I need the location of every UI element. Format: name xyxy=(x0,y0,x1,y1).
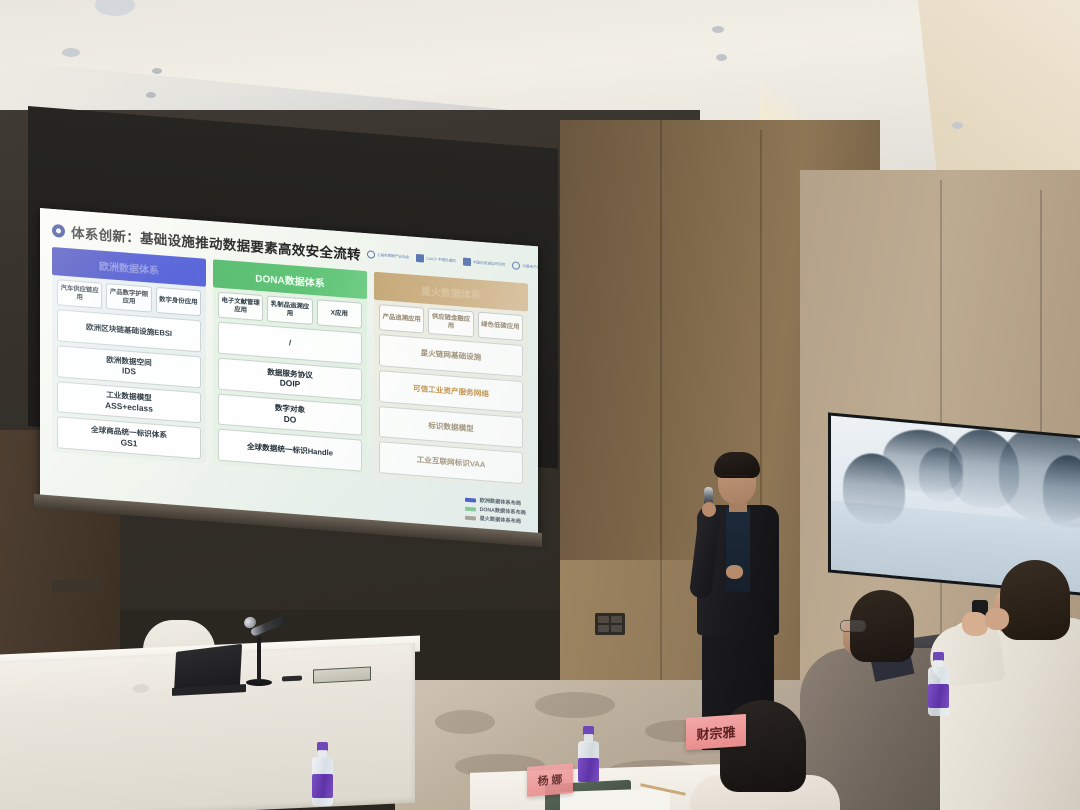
ceiling-downlight-icon xyxy=(952,122,963,129)
partner-logo: 中国信息通信研究院 xyxy=(463,258,505,269)
layer-box: 工业数据模型 ASS+eclass xyxy=(57,381,201,424)
presentation-clicker[interactable] xyxy=(282,675,302,681)
app-box: 汽车供应链应用 xyxy=(57,279,102,308)
baseboard-outlet xyxy=(52,580,98,592)
ceiling-downlight-icon xyxy=(712,26,724,33)
partner-logo-strip: 上海市数据产业协会 CAICT 中国信通院 中国信息通信研究院 中国电子技术标准… xyxy=(367,250,538,273)
audience-member-phone-head xyxy=(1000,560,1070,640)
presenter-hand-right xyxy=(726,565,743,579)
audience-hand-left xyxy=(962,612,988,636)
partner-logo-label: 中国信息通信研究院 xyxy=(473,260,505,267)
app-box: 绿色低碳应用 xyxy=(478,312,523,341)
water-bottle-far-table xyxy=(928,652,946,708)
microphone-stand-pole xyxy=(257,637,261,683)
legend-swatch-icon xyxy=(465,497,476,502)
layer-title: 标识数据模型 xyxy=(428,420,474,433)
layer-title: 工业互联网标识VAA xyxy=(417,455,486,470)
partner-logo-label: 中国电子技术标准化 xyxy=(522,264,538,271)
column-xinghuo-rows: 星火链网基础设施 可信工业资产服务网络 标识数据模型 工业互联网标识VAA xyxy=(374,334,528,485)
layer-subtitle: DO xyxy=(284,414,297,425)
app-box: 乳制品追溯应用 xyxy=(267,295,312,324)
partner-logo: CAICT 中国信通院 xyxy=(416,254,456,265)
desk-microphone xyxy=(250,615,288,637)
presenter-hand-left xyxy=(702,502,716,517)
layer-title: 可信工业资产服务网络 xyxy=(413,384,489,399)
partner-logo-label: 上海市数据产业协会 xyxy=(377,253,409,260)
column-dona-rows: / 数据服务协议 DOIP 数字对象 DO 全球数据统一标识Handle xyxy=(213,321,367,472)
layer-box: 欧洲数据空间 IDS xyxy=(57,345,201,388)
layer-subtitle: IDS xyxy=(122,365,136,377)
partner-logo: 中国电子技术标准化 xyxy=(512,261,538,272)
square-logo-icon xyxy=(463,258,471,267)
water-bottle-podium xyxy=(312,742,333,806)
papers-on-table xyxy=(560,788,670,810)
column-dona: DONA数据体系 电子文献管理应用 乳制品追溯应用 X应用 / 数据服务协议 xyxy=(213,259,367,476)
audience-hand-right xyxy=(985,608,1009,630)
ceiling-downlight-icon xyxy=(62,48,80,57)
app-box: X应用 xyxy=(317,299,362,328)
column-eu: 欧洲数据体系 汽车供应链应用 产品数字护照应用 数字身份应用 欧洲区块链基础设施… xyxy=(52,247,206,464)
column-xinghuo: 星火数据体系 产品追溯应用 供应链金融应用 绿色低碳应用 星火链网基础设施 可信… xyxy=(374,272,528,489)
water-bottle-front-table xyxy=(578,726,599,790)
app-box: 数字身份应用 xyxy=(156,287,201,316)
circle-logo-icon xyxy=(367,250,375,259)
presenter-shirt xyxy=(726,508,750,592)
name-card-left: 杨 娜 xyxy=(527,763,573,797)
ceiling-downlight-icon xyxy=(146,92,156,98)
layer-box: 数字对象 DO xyxy=(218,393,362,436)
layer-subtitle: GS1 xyxy=(121,437,138,449)
column-eu-rows: 欧洲区块链基础设施EBSI 欧洲数据空间 IDS 工业数据模型 ASS+ecla… xyxy=(52,309,206,460)
app-box: 电子文献管理应用 xyxy=(218,292,263,321)
legend-swatch-icon xyxy=(465,506,476,511)
presentation-slide: 体系创新：基础设施推动数据要素高效安全流转 上海市数据产业协会 CAICT 中国… xyxy=(40,208,538,536)
app-box: 产品追溯应用 xyxy=(379,304,424,333)
layer-box: 数据服务协议 DOIP xyxy=(218,357,362,400)
layer-box: 标识数据模型 xyxy=(379,406,523,449)
legend-label: 星火数据体系布局 xyxy=(480,515,522,525)
layer-box: 工业互联网标识VAA xyxy=(379,441,523,484)
wood-panel-seam xyxy=(660,120,662,680)
layer-title: 全球数据统一标识Handle xyxy=(247,442,333,458)
projection-screen[interactable]: 体系创新：基础设施推动数据要素高效安全流转 上海市数据产业协会 CAICT 中国… xyxy=(40,208,538,536)
layer-box: 全球数据统一标识Handle xyxy=(218,429,362,472)
audience-glasses-icon xyxy=(840,620,866,632)
layer-box: 可信工业资产服务网络 xyxy=(379,370,523,413)
partner-logo: 上海市数据产业协会 xyxy=(367,250,409,261)
layer-title: / xyxy=(289,338,291,348)
layer-title: 星火链网基础设施 xyxy=(421,348,482,362)
conference-room-photo: 体系创新：基础设施推动数据要素高效安全流转 上海市数据产业协会 CAICT 中国… xyxy=(0,0,1080,810)
ceiling-downlight-icon xyxy=(716,54,727,61)
square-logo-icon xyxy=(416,254,424,263)
slide-legend: 欧洲数据体系布局 DONA数据体系布局 星火数据体系布局 xyxy=(465,496,526,526)
partner-logo-label: CAICT 中国信通院 xyxy=(426,257,456,263)
app-box: 产品数字护照应用 xyxy=(106,283,151,312)
circle-bullet-icon xyxy=(52,223,65,237)
legend-swatch-icon xyxy=(465,515,476,520)
name-card-right: 财宗雅 xyxy=(686,714,746,750)
app-box: 供应链金融应用 xyxy=(428,308,473,337)
layer-box: 全球商品统一标识体系 GS1 xyxy=(57,417,201,460)
ceiling-downlight-icon xyxy=(152,68,162,74)
layer-subtitle: DOIP xyxy=(280,378,300,390)
layer-title: 欧洲区块链基础设施EBSI xyxy=(86,323,172,339)
presenter-glasses-icon xyxy=(719,475,749,482)
circle-logo-icon xyxy=(512,261,520,270)
slide-columns: 欧洲数据体系 汽车供应链应用 产品数字护照应用 数字身份应用 欧洲区块链基础设施… xyxy=(52,247,528,489)
wall-power-outlet xyxy=(595,613,625,635)
